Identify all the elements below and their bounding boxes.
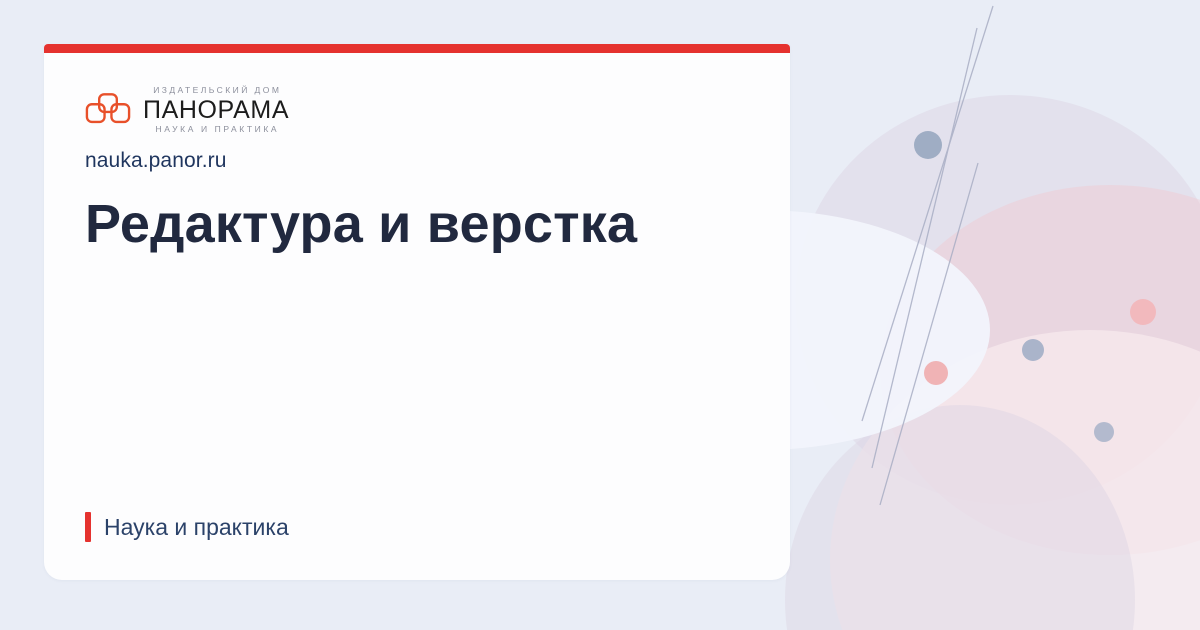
panorama-interlocking-squares-logo-icon — [85, 92, 131, 128]
dot-blue-mid — [1022, 339, 1044, 361]
diagonal-line-3 — [880, 163, 978, 505]
page-title: Редактура и верстка — [85, 193, 755, 257]
lavender-blob-lower — [785, 405, 1135, 630]
dot-blue-lower — [1094, 422, 1114, 442]
card-footer: Наука и практика — [85, 512, 289, 542]
footer-label: Наука и практика — [104, 514, 289, 541]
dot-pink-right — [1130, 299, 1156, 325]
logo-kicker-text: ИЗДАТЕЛЬСКИЙ ДОМ — [151, 86, 282, 95]
pink-blob-large — [880, 185, 1200, 555]
content-card: ИЗДАТЕЛЬСКИЙ ДОМ ПАНОРАМА НАУКА И ПРАКТИ… — [44, 44, 790, 580]
dot-pink-left — [924, 361, 948, 385]
pink-wash-bottom — [830, 330, 1200, 630]
footer-accent-bar — [85, 512, 91, 542]
card-body: ИЗДАТЕЛЬСКИЙ ДОМ ПАНОРАМА НАУКА И ПРАКТИ… — [44, 53, 790, 580]
diagonal-line-2 — [872, 28, 977, 468]
logo-tagline-text: НАУКА И ПРАКТИКА — [153, 125, 279, 134]
diagonal-line-1 — [862, 6, 993, 421]
dot-blue-upper — [914, 131, 942, 159]
publisher-wordmark: ИЗДАТЕЛЬСКИЙ ДОМ ПАНОРАМА НАУКА И ПРАКТИ… — [143, 86, 289, 133]
lavender-blob-large — [795, 95, 1200, 505]
card-top-accent-bar — [44, 44, 790, 53]
promo-banner: ИЗДАТЕЛЬСКИЙ ДОМ ПАНОРАМА НАУКА И ПРАКТИ… — [0, 0, 1200, 630]
site-url-link[interactable]: nauka.panor.ru — [85, 149, 227, 173]
logo-name-text: ПАНОРАМА — [143, 98, 289, 123]
publisher-logo[interactable]: ИЗДАТЕЛЬСКИЙ ДОМ ПАНОРАМА НАУКА И ПРАКТИ… — [85, 86, 289, 133]
